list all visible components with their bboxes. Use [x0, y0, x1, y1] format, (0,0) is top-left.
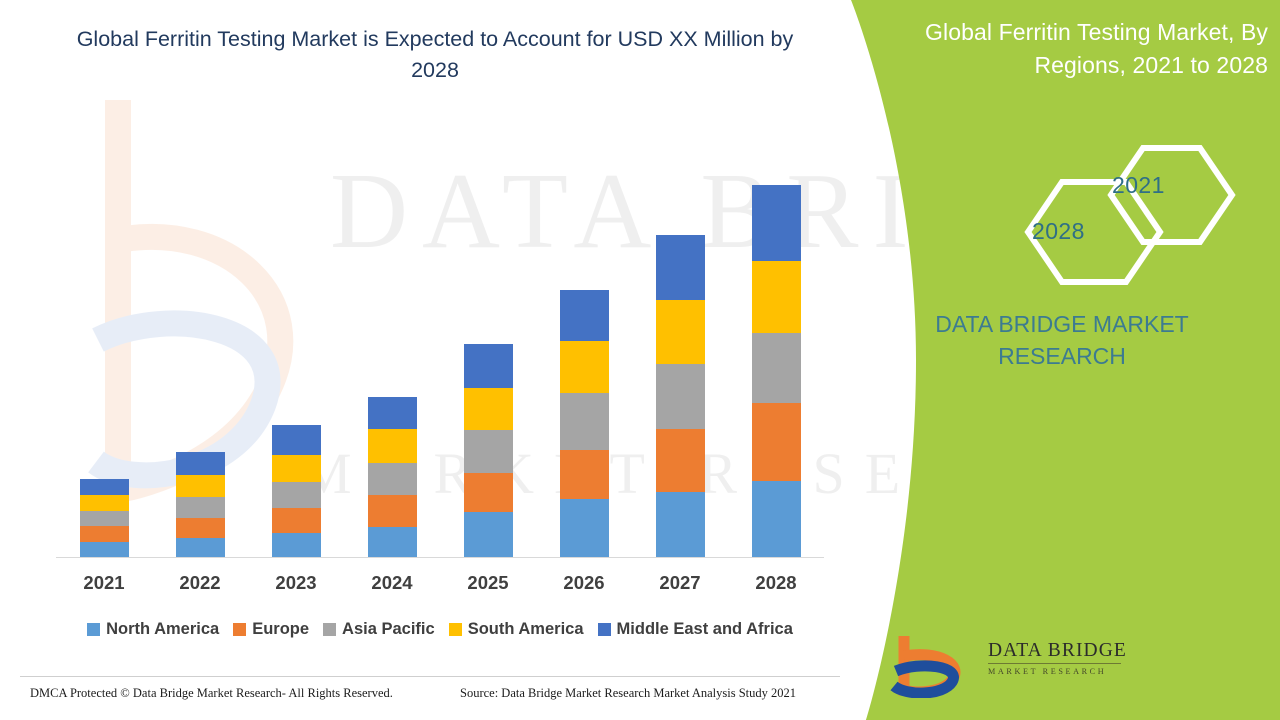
- bar-segment-europe: [272, 508, 321, 533]
- hexagon-2028-label: 2028: [1032, 218, 1085, 245]
- bar-segment-south-america: [656, 300, 705, 364]
- logo-divider: [988, 663, 1121, 664]
- bar-segment-middle-east-and-africa: [464, 344, 513, 388]
- legend-swatch-icon: [323, 623, 336, 636]
- bar-segment-middle-east-and-africa: [272, 425, 321, 455]
- bar-segment-south-america: [80, 495, 129, 511]
- legend-item-europe[interactable]: Europe: [233, 620, 309, 639]
- legend-label: Europe: [252, 620, 309, 639]
- bar-segment-middle-east-and-africa: [656, 235, 705, 300]
- x-label-2028: 2028: [728, 572, 824, 594]
- bar-segment-south-america: [272, 455, 321, 482]
- hexagon-shapes: [890, 140, 1268, 290]
- bar-segment-north-america: [176, 538, 225, 557]
- footer-copyright: DMCA Protected © Data Bridge Market Rese…: [30, 686, 393, 701]
- infographic-root: DATA BRIDGE MARKET RESEARCH Global Ferri…: [0, 0, 1280, 720]
- bar-segment-middle-east-and-africa: [560, 290, 609, 341]
- bar-2022: [176, 452, 225, 557]
- data-bridge-logo: DATA BRIDGE MARKET RESEARCH: [890, 636, 1120, 698]
- bar-segment-europe: [80, 526, 129, 542]
- bar-2026: [560, 290, 609, 557]
- x-label-2021: 2021: [56, 572, 152, 594]
- logo-subtitle: MARKET RESEARCH: [988, 667, 1123, 676]
- legend-item-south-america[interactable]: South America: [449, 620, 584, 639]
- legend-label: Asia Pacific: [342, 620, 435, 639]
- legend-item-north-america[interactable]: North America: [87, 620, 219, 639]
- x-label-2024: 2024: [344, 572, 440, 594]
- hexagon-group: 2021 2028: [890, 140, 1268, 290]
- bar-segment-europe: [752, 403, 801, 481]
- bar-2023: [272, 425, 321, 557]
- footer-source: Source: Data Bridge Market Research Mark…: [460, 686, 796, 701]
- bar-2025: [464, 344, 513, 557]
- chart-legend: North AmericaEuropeAsia PacificSouth Ame…: [56, 616, 824, 642]
- bar-2024: [368, 397, 417, 557]
- bar-segment-south-america: [176, 475, 225, 497]
- logo-wordmark: DATA BRIDGE MARKET RESEARCH: [988, 640, 1123, 676]
- bar-segment-south-america: [752, 261, 801, 333]
- bar-segment-north-america: [752, 481, 801, 557]
- x-label-2026: 2026: [536, 572, 632, 594]
- bar-segment-europe: [656, 429, 705, 492]
- bar-segment-north-america: [80, 542, 129, 557]
- bar-segment-europe: [560, 450, 609, 499]
- bar-segment-asia-pacific: [560, 393, 609, 450]
- legend-item-asia-pacific[interactable]: Asia Pacific: [323, 620, 435, 639]
- legend-swatch-icon: [598, 623, 611, 636]
- legend-label: South America: [468, 620, 584, 639]
- logo-mark-icon: [890, 636, 982, 698]
- x-axis-tick-labels: 20212022202320242025202620272028: [56, 572, 824, 600]
- bar-segment-europe: [176, 518, 225, 538]
- x-label-2025: 2025: [440, 572, 536, 594]
- bar-2028: [752, 185, 801, 557]
- bar-segment-north-america: [368, 527, 417, 557]
- bar-2021: [80, 479, 129, 557]
- x-label-2027: 2027: [632, 572, 728, 594]
- bar-segment-asia-pacific: [176, 497, 225, 518]
- legend-label: North America: [106, 620, 219, 639]
- bar-segment-asia-pacific: [368, 463, 417, 495]
- brand-name: DATA BRIDGE MARKET RESEARCH: [880, 308, 1280, 372]
- x-label-2023: 2023: [248, 572, 344, 594]
- logo-title: DATA BRIDGE: [988, 640, 1123, 662]
- right-panel-title: Global Ferritin Testing Market, By Regio…: [890, 16, 1268, 82]
- page-title: Global Ferritin Testing Market is Expect…: [70, 24, 800, 86]
- bar-2027: [656, 235, 705, 557]
- legend-swatch-icon: [449, 623, 462, 636]
- bar-segment-asia-pacific: [752, 333, 801, 403]
- bar-segment-middle-east-and-africa: [752, 185, 801, 261]
- bar-segment-north-america: [464, 512, 513, 557]
- bar-segment-middle-east-and-africa: [176, 452, 225, 475]
- legend-label: Middle East and Africa: [617, 620, 793, 639]
- bar-segment-asia-pacific: [656, 364, 705, 429]
- bar-segment-europe: [464, 473, 513, 512]
- x-label-2022: 2022: [152, 572, 248, 594]
- bar-segment-north-america: [272, 533, 321, 557]
- bar-segment-europe: [368, 495, 417, 527]
- legend-item-middle-east-and-africa[interactable]: Middle East and Africa: [598, 620, 793, 639]
- hexagon-2021-label: 2021: [1112, 172, 1165, 199]
- legend-swatch-icon: [87, 623, 100, 636]
- footer-divider: [20, 676, 840, 677]
- bar-segment-asia-pacific: [80, 511, 129, 526]
- bar-segment-asia-pacific: [272, 482, 321, 508]
- bar-segment-south-america: [464, 388, 513, 430]
- bar-segment-north-america: [656, 492, 705, 557]
- bar-segment-middle-east-and-africa: [368, 397, 417, 429]
- bar-segment-middle-east-and-africa: [80, 479, 129, 495]
- bar-segment-south-america: [368, 429, 417, 463]
- x-axis-line: [56, 557, 824, 558]
- bar-segment-north-america: [560, 499, 609, 557]
- legend-swatch-icon: [233, 623, 246, 636]
- bar-segment-asia-pacific: [464, 430, 513, 473]
- chart-plot-area: [56, 120, 824, 558]
- bar-segment-south-america: [560, 341, 609, 393]
- right-panel-content: Global Ferritin Testing Market, By Regio…: [880, 0, 1280, 720]
